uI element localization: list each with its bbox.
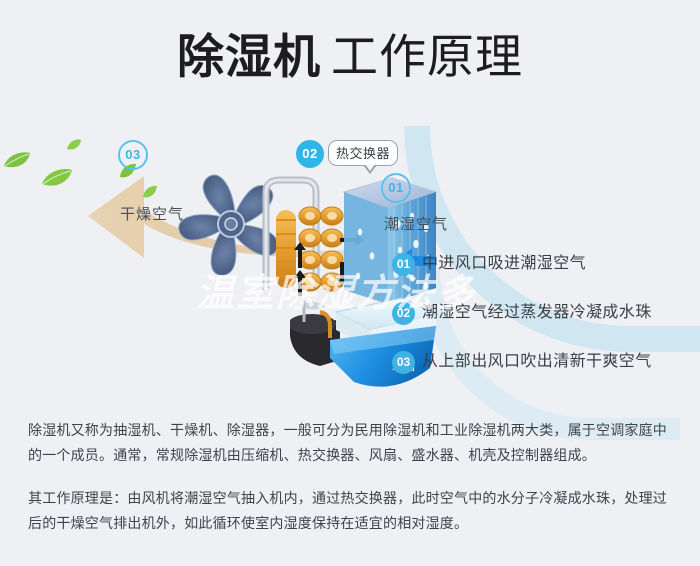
list-item: 01 中进风口吸进潮湿空气 bbox=[392, 252, 692, 278]
badge-01: 01 bbox=[381, 173, 411, 203]
leaf-icon bbox=[66, 138, 82, 152]
leaf-icon bbox=[142, 184, 158, 200]
page-title-part2: 工作原理 bbox=[331, 30, 523, 83]
step-number-badge: 03 bbox=[392, 351, 415, 374]
step-text: 潮湿空气经过蒸发器冷凝成水珠 bbox=[422, 301, 652, 325]
description-block: 除湿机又称为抽湿机、干燥机、除湿器，一般可分为民用除湿机和工业除湿机两大类，属于… bbox=[28, 418, 678, 536]
step-number-badge: 01 bbox=[392, 253, 415, 276]
step-number-badge: 02 bbox=[392, 302, 415, 325]
list-item: 02 潮湿空气经过蒸发器冷凝成水珠 bbox=[392, 301, 692, 327]
leaf-icon bbox=[2, 150, 32, 172]
humid-air-label: 潮湿空气 bbox=[384, 213, 448, 234]
paragraph-2: 其工作原理是：由风机将潮湿空气抽入机内，通过热交换器，此时空气中的水分子冷凝成水… bbox=[28, 486, 678, 536]
page-title: 除湿机工作原理 bbox=[0, 26, 700, 88]
leaf-icon bbox=[40, 166, 74, 190]
list-item: 03 从上部出风口吹出清新干爽空气 bbox=[392, 350, 692, 376]
paragraph-1: 除湿机又称为抽湿机、干燥机、除湿器，一般可分为民用除湿机和工业除湿机两大类，属于… bbox=[28, 418, 678, 468]
page-title-part1: 除湿机 bbox=[177, 30, 321, 83]
heat-exchanger-callout: 热交换器 bbox=[328, 140, 398, 166]
step-text: 中进风口吸进潮湿空气 bbox=[422, 252, 586, 276]
badge-03: 03 bbox=[118, 140, 148, 170]
dry-air-label: 干燥空气 bbox=[120, 203, 184, 224]
badge-02: 02 bbox=[296, 140, 324, 168]
step-text: 从上部出风口吹出清新干爽空气 bbox=[422, 350, 652, 374]
steps-list: 01 中进风口吸进潮湿空气 02 潮湿空气经过蒸发器冷凝成水珠 03 从上部出风… bbox=[392, 252, 692, 399]
infographic-page: 除湿机工作原理 bbox=[0, 0, 700, 566]
